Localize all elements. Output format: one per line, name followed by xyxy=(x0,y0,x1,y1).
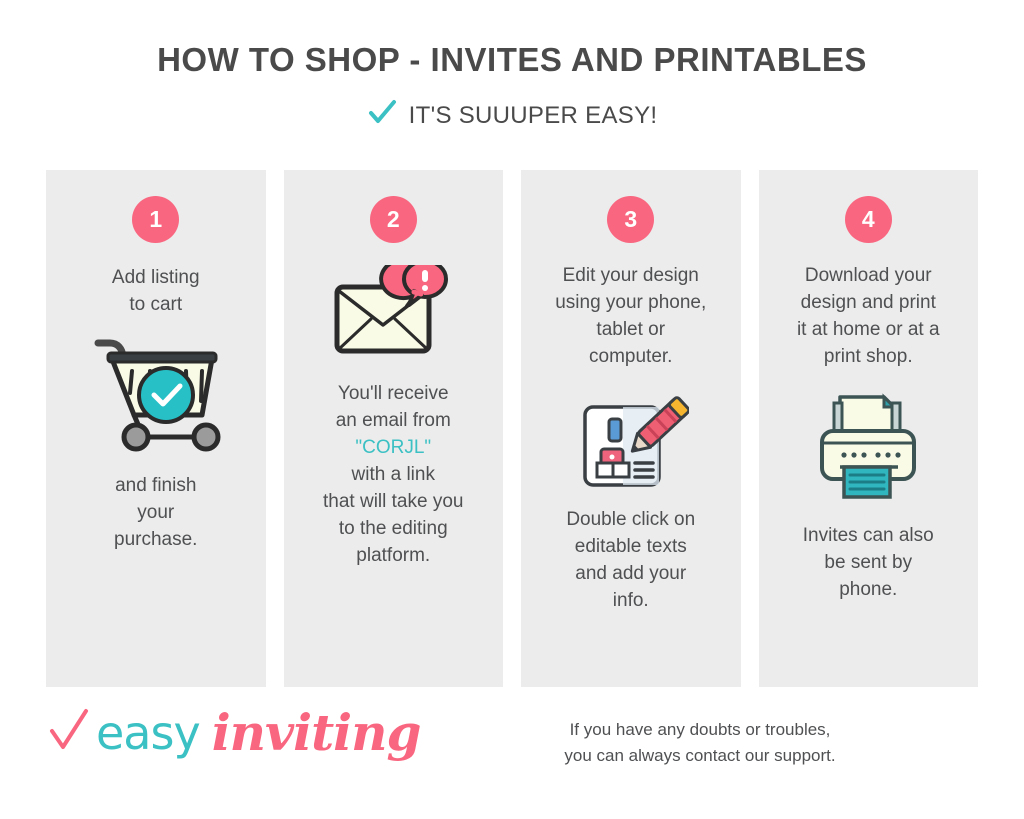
step-2-highlight: "CORJL" xyxy=(284,435,504,462)
step-3-text-below: Double click on editable texts and add y… xyxy=(521,507,741,615)
step-badge-3: 3 xyxy=(607,196,654,243)
step-3-text-above: Edit your design using your phone, table… xyxy=(521,263,741,371)
brand-logo[interactable]: easy inviting xyxy=(48,703,420,762)
step-card-4: 4 Download your design and print it at h… xyxy=(759,170,979,687)
logo-word-easy: easy xyxy=(96,706,200,760)
subtitle-row: IT'S SUUUPER EASY! xyxy=(0,98,1024,133)
step-1-text-above: Add listing to cart xyxy=(46,265,266,319)
logo-word-inviting: inviting xyxy=(212,703,421,762)
edit-document-pencil-icon xyxy=(521,387,741,491)
printer-icon xyxy=(759,389,979,501)
step-2-text-line1: You'll receive an email from xyxy=(284,381,504,435)
steps-container: 1 Add listing to cart xyxy=(46,170,978,687)
step-badge-4: 4 xyxy=(845,196,892,243)
step-card-3: 3 Edit your design using your phone, tab… xyxy=(521,170,741,687)
step-card-2: 2 You'll receive an email from "COR xyxy=(284,170,504,687)
step-card-1: 1 Add listing to cart xyxy=(46,170,266,687)
step-4-text-below: Invites can also be sent by phone. xyxy=(759,523,979,604)
infographic-page: HOW TO SHOP - INVITES AND PRINTABLES IT'… xyxy=(0,0,1024,819)
check-icon xyxy=(48,707,90,758)
check-icon xyxy=(367,98,397,133)
shopping-cart-icon xyxy=(46,329,266,453)
support-text: If you have any doubts or troubles, you … xyxy=(520,717,880,770)
page-title: HOW TO SHOP - INVITES AND PRINTABLES xyxy=(0,42,1024,78)
step-badge-1: 1 xyxy=(132,196,179,243)
header: HOW TO SHOP - INVITES AND PRINTABLES IT'… xyxy=(0,0,1024,133)
step-1-text-below: and finish your purchase. xyxy=(46,473,266,554)
step-4-text-above: Download your design and print it at hom… xyxy=(759,263,979,371)
subtitle-text: IT'S SUUUPER EASY! xyxy=(409,102,658,130)
step-badge-2: 2 xyxy=(370,196,417,243)
step-2-text-line2: with a link that will take you to the ed… xyxy=(284,462,504,570)
envelope-alert-icon xyxy=(284,265,504,361)
footer: easy inviting If you have any doubts or … xyxy=(0,695,1024,819)
